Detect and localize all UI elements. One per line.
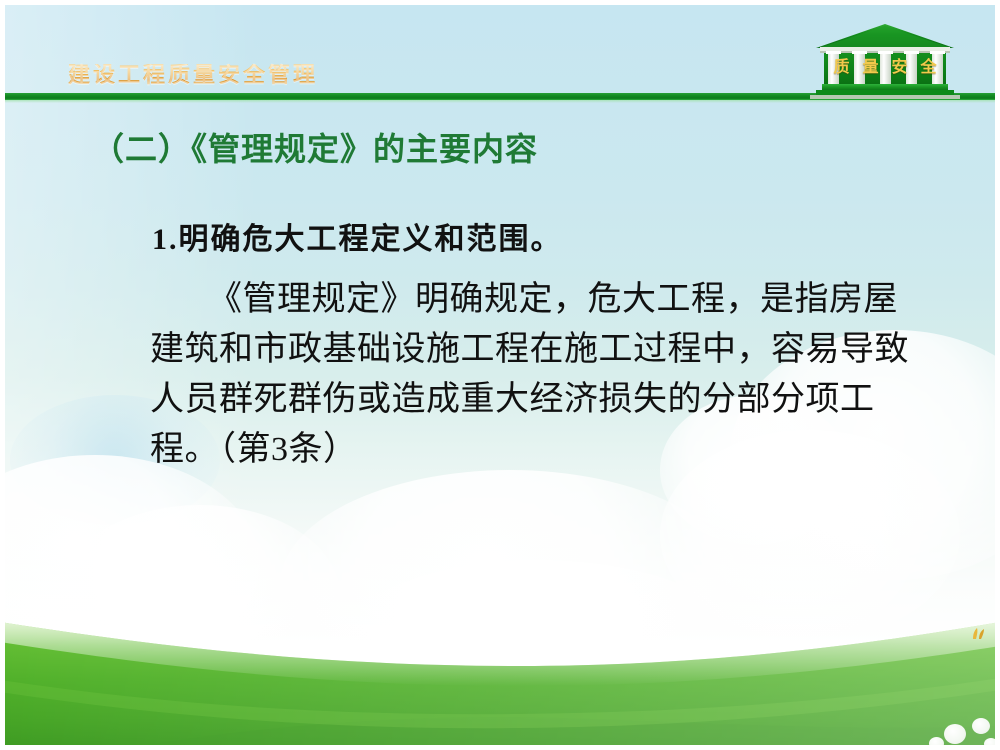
section-heading: （二）《管理规定》的主要内容 (92, 124, 538, 170)
slide-content: （二）《管理规定》的主要内容 1.明确危大工程定义和范围。 《管理规定》明确规定… (0, 0, 1000, 750)
numbered-point-line: 1.明确危大工程定义和范围。 (152, 214, 563, 258)
slide-canvas: 建设工程质量安全管理 (0, 0, 1000, 750)
body-paragraph: 《管理规定》明确规定，危大工程，是指房屋建筑和市政基础设施工程在施工过程中，容易… (150, 275, 920, 475)
